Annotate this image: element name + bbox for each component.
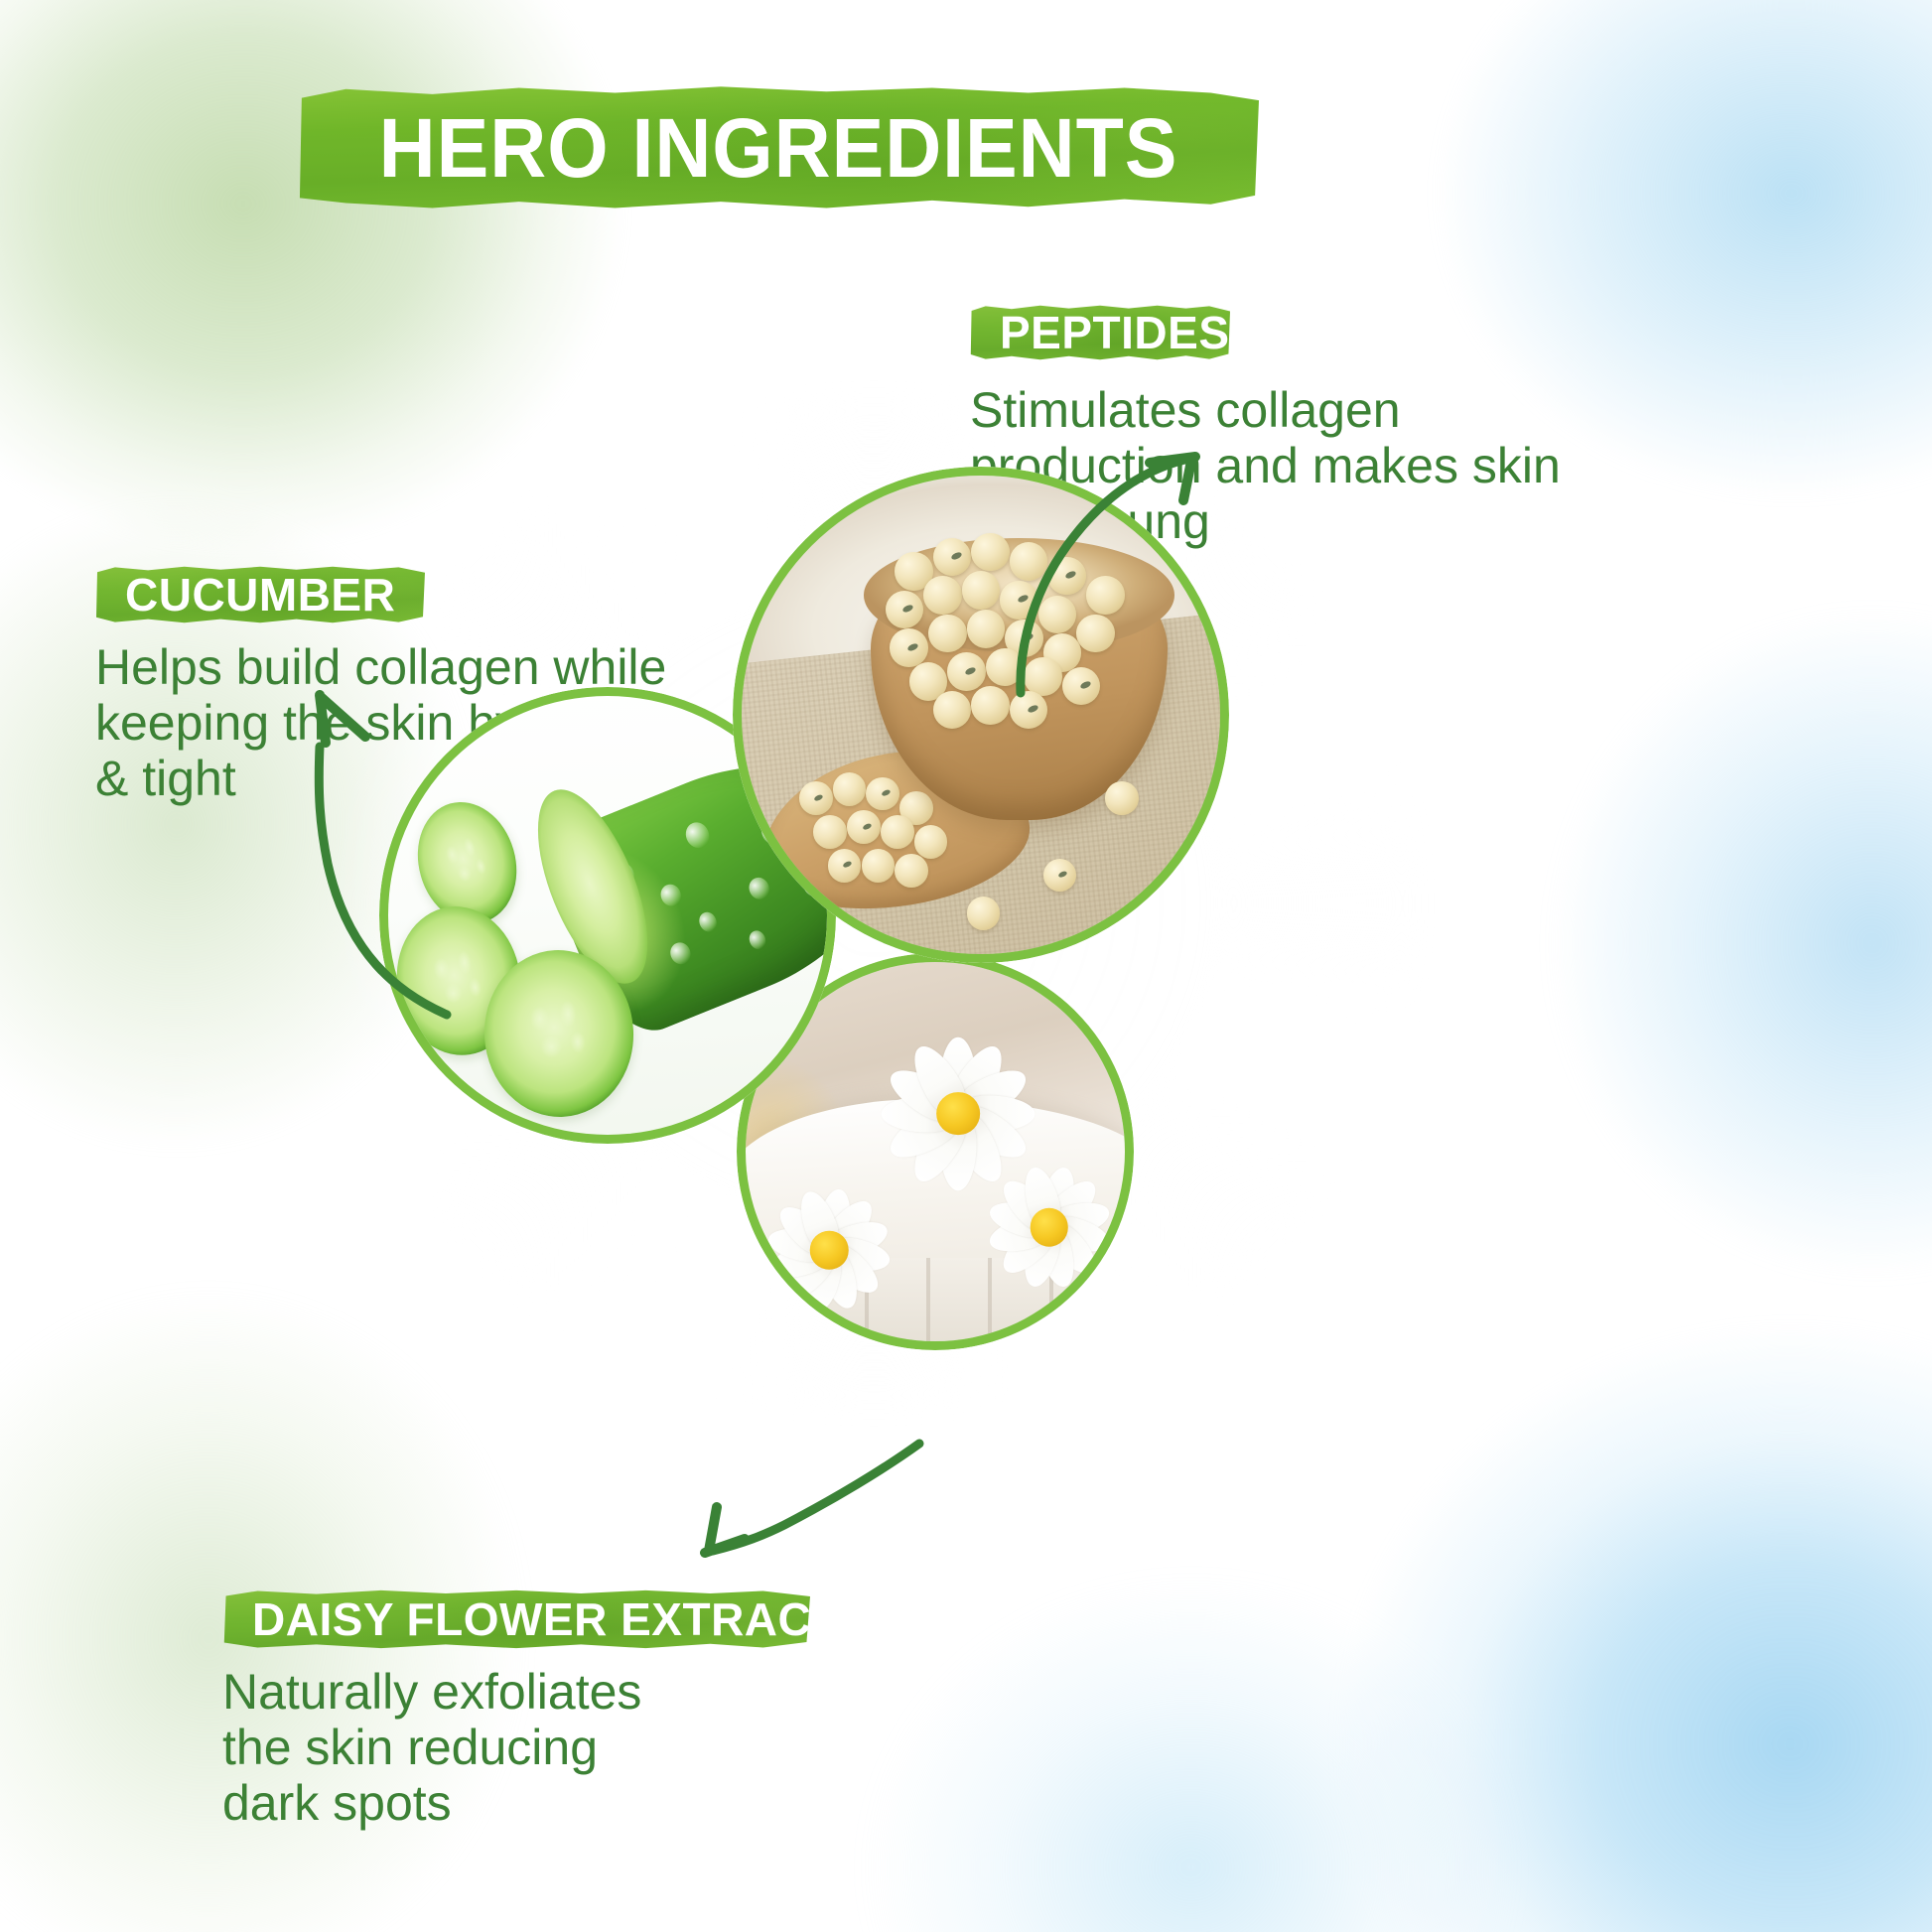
page-title: HERO INGREDIENTS (379, 100, 1178, 197)
ingredient-label-cucumber: CUCUMBER (95, 565, 425, 624)
peptides-photo-circle (733, 467, 1229, 963)
cucumber-label-text: CUCUMBER (125, 568, 395, 621)
watercolor-blue-bottom-right (1138, 1197, 1932, 1932)
watercolor-blue-bottom (814, 1555, 1569, 1932)
daisy-flower-small-left (760, 1182, 897, 1319)
page-title-banner: HERO INGREDIENTS (298, 85, 1259, 210)
daisy-description: Naturally exfoliates the skin reducing d… (222, 1664, 778, 1831)
ingredient-label-peptides: PEPTIDES (970, 304, 1230, 361)
ingredient-label-daisy: DAISY FLOWER EXTRACT (222, 1588, 810, 1650)
daisy-label-text: DAISY FLOWER EXTRACT (252, 1592, 840, 1646)
peptides-label-text: PEPTIDES (1000, 306, 1230, 359)
infographic-canvas: HERO INGREDIENTS PEPTIDES Stimulates col… (0, 0, 1932, 1932)
daisy-flower-small-right (981, 1160, 1118, 1297)
peptides-photo (742, 476, 1220, 954)
watercolor-blue-right (1396, 516, 1932, 1370)
